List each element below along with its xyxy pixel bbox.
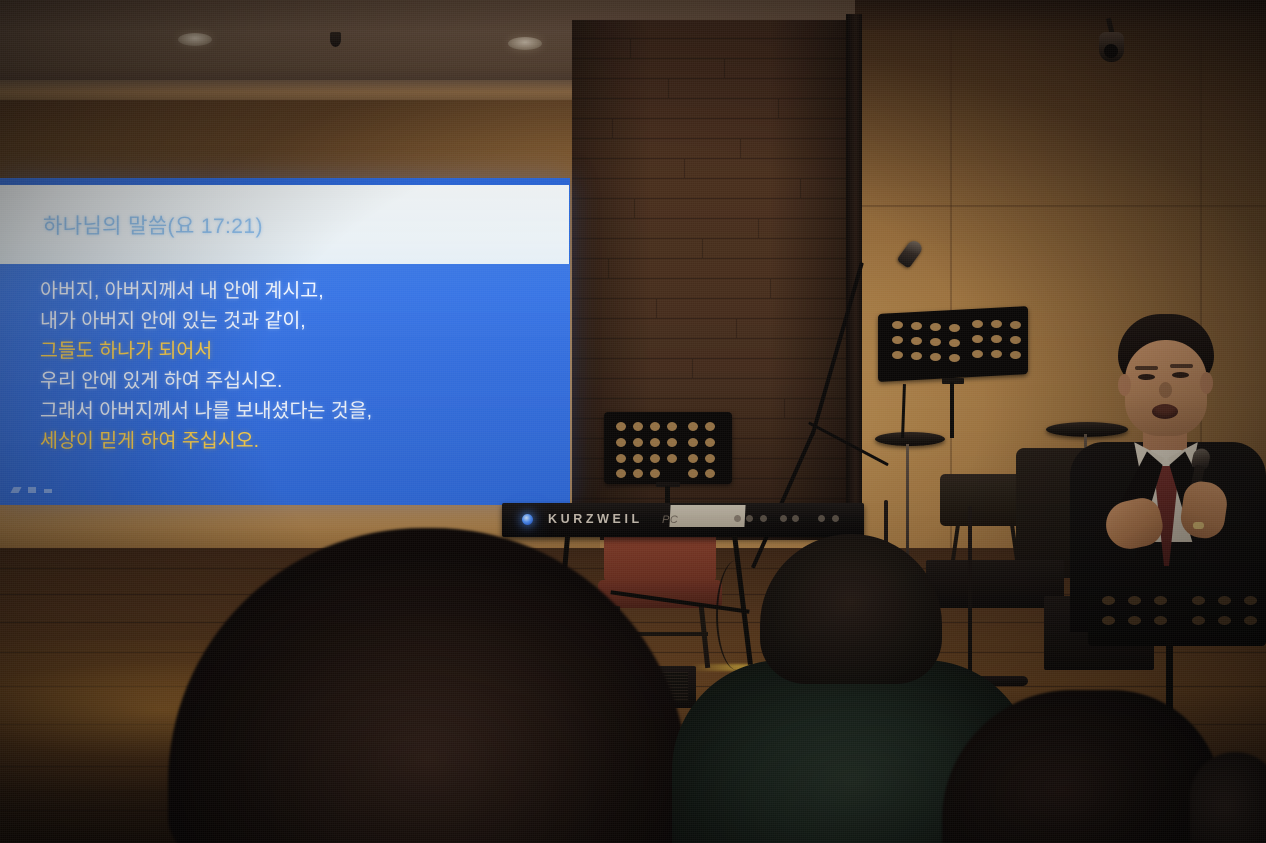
audience-far-right-corner bbox=[1190, 752, 1266, 843]
security-camera-icon bbox=[1099, 18, 1125, 64]
presenter-ear-right bbox=[1200, 372, 1213, 394]
downlight-icon bbox=[508, 37, 542, 50]
presenter-eye-left bbox=[1138, 374, 1155, 380]
kurzweil-keyboard: KURZWEIL PC bbox=[502, 503, 864, 537]
photograph-scene: 하나님의 말씀(요 17:21) 아버지, 아버지께서 내 안에 계시고, 내가… bbox=[0, 0, 1266, 843]
sprinkler-head-icon bbox=[330, 32, 341, 47]
projection-screen: 하나님의 말씀(요 17:21) 아버지, 아버지께서 내 안에 계시고, 내가… bbox=[0, 178, 570, 505]
presenter-figure bbox=[1060, 300, 1266, 630]
slide-title: 하나님의 말씀(요 17:21) bbox=[43, 210, 263, 240]
slide-line-1: 아버지, 아버지께서 내 안에 계시고, bbox=[40, 276, 570, 306]
presenter-brow-left bbox=[1135, 366, 1158, 370]
ceiling-right-soffit bbox=[855, 0, 1266, 30]
power-led-icon bbox=[522, 514, 533, 525]
slide-line-2: 내가 아버지 안에 있는 것과 같이, bbox=[40, 306, 570, 336]
slide-line-4: 우리 안에 있게 하여 주십시오. bbox=[40, 366, 570, 396]
wall-seam-3 bbox=[862, 205, 1266, 207]
presenter-ear-left bbox=[1118, 374, 1131, 396]
screen-corner-artifact bbox=[12, 487, 58, 497]
music-stand-foreground-right bbox=[1088, 586, 1266, 646]
slide-line-6: 세상이 믿게 하여 주십시오. bbox=[40, 426, 570, 456]
presenter-nose bbox=[1159, 382, 1172, 398]
slide-header-band: 하나님의 말씀(요 17:21) bbox=[0, 185, 569, 264]
slide-line-5: 그래서 아버지께서 나를 보내셨다는 것을, bbox=[40, 396, 570, 426]
slide-body: 아버지, 아버지께서 내 안에 계시고, 내가 아버지 안에 있는 것과 같이,… bbox=[0, 264, 570, 505]
presenter-brow-right bbox=[1170, 364, 1193, 368]
downlight-icon bbox=[178, 33, 212, 46]
presenter-eye-right bbox=[1172, 372, 1189, 378]
keyboard-brand-label: KURZWEIL bbox=[548, 512, 643, 526]
slide-line-3: 그들도 하나가 되어서 bbox=[40, 336, 570, 366]
keyboard-model-label: PC bbox=[662, 514, 678, 526]
presenter-mouth bbox=[1152, 404, 1178, 419]
presenter-ring bbox=[1193, 522, 1204, 529]
music-stand-center bbox=[878, 310, 1030, 438]
keyboard-control-knobs bbox=[734, 515, 854, 524]
